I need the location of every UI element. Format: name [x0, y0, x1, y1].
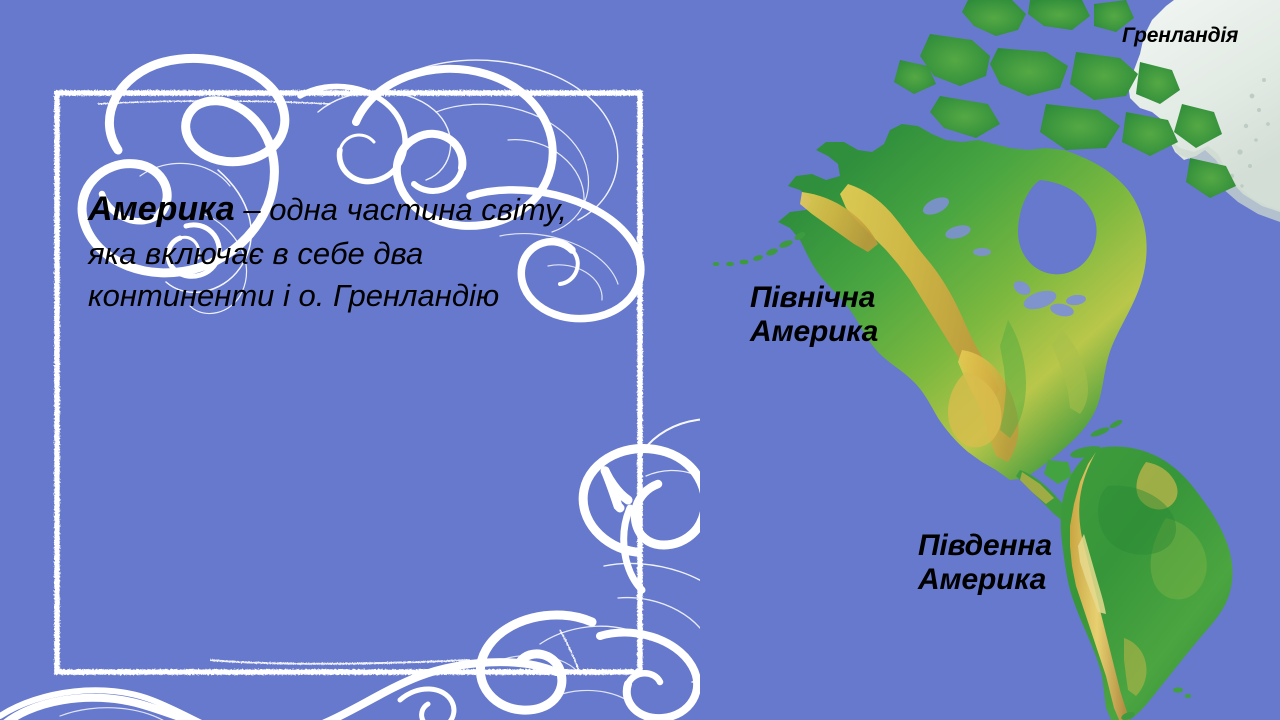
- caption-lead-word: Америка: [88, 190, 235, 228]
- map-label-south-america: Південна Америка: [918, 529, 1052, 596]
- presentation-slide: Америка – одна частина світу, яка включа…: [0, 0, 1280, 720]
- caption-separator: –: [235, 192, 269, 227]
- map-label-north-america: Північна Америка: [750, 281, 878, 348]
- americas-relief-map: [0, 0, 1280, 720]
- slide-caption: Америка – одна частина світу, яка включа…: [88, 186, 613, 318]
- map-graphic: [0, 0, 1280, 720]
- map-label-greenland: Гренландія: [1122, 24, 1238, 48]
